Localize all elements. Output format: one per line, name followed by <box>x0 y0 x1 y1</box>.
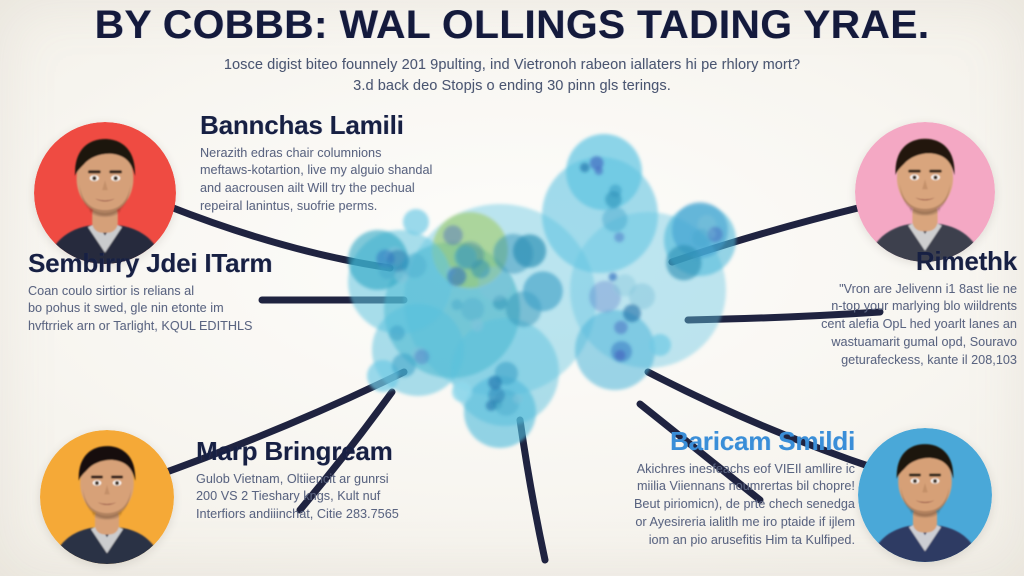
card-heading: Baricam Smildi <box>555 428 855 456</box>
bubble-speckle <box>595 167 603 175</box>
body-line: cent alefia OpL hed yoarlt lanes an <box>745 316 1017 334</box>
bubble-speckle <box>614 274 636 296</box>
body-line: Akichres inesfeachs eof VIEIl amllire ic <box>555 461 855 479</box>
portrait-top-left <box>34 122 176 264</box>
body-line: repeiral lanintus, suofrie perms. <box>200 198 505 216</box>
edge-hub-down-center <box>520 420 545 560</box>
card-heading: Marp Bringream <box>196 438 496 466</box>
body-line: 200 VS 2 Tieshary kngs, Kult nuf <box>196 488 496 506</box>
page-title: BY COBBB: WAL OLLINGS TADING YRAE. <box>0 4 1024 46</box>
bubble-speckle <box>390 325 405 340</box>
portrait-photo <box>858 428 992 562</box>
heading-line: Sembirry <box>28 248 139 278</box>
body-line: wastuamarit gumal opd, Souravo <box>745 334 1017 352</box>
body-line: Nerazith edras chair columnions <box>200 145 505 163</box>
bubble-speckle <box>471 260 490 279</box>
heading-line: Bringream <box>264 436 392 466</box>
portrait-photo <box>855 122 995 262</box>
card-heading: Bannchas Lamili <box>200 112 505 140</box>
bubble-speckle <box>615 350 626 361</box>
body-line: bo pohus it swed, gle nin etonte im <box>28 300 328 318</box>
bubble-speckle <box>414 349 429 364</box>
bubble-speckle <box>666 245 701 280</box>
card-body: Akichres inesfeachs eof VIEIl amllire ic… <box>555 461 855 550</box>
title-block: BY COBBB: WAL OLLINGS TADING YRAE. 1osce… <box>0 4 1024 97</box>
subtitle-line-2: 3.d back deo Stopjs o ending 30 pinn gls… <box>60 76 964 97</box>
bubble-speckle <box>614 232 624 242</box>
bubble-speckle <box>488 387 505 404</box>
bubble-speckle <box>392 353 416 377</box>
card-baricam-smildi: Baricam Smildi Akichres inesfeachs eof V… <box>555 428 855 550</box>
heading-line: Marp <box>196 436 257 466</box>
bubble-speckle <box>602 207 627 232</box>
portrait-bottom-right <box>858 428 992 562</box>
card-heading: Sembirry Jdei ITarm <box>28 250 328 278</box>
bubble-speckle <box>706 229 716 239</box>
body-line: geturafeckess, kante il 208,103 <box>745 352 1017 370</box>
bubble-speckle <box>443 225 463 245</box>
bubble-tiny-d <box>452 382 472 402</box>
body-line: meftaws-kotartion, live my alguio shanda… <box>200 162 505 180</box>
page-subtitle: 1osce digist biteo founnely 201 9pulting… <box>0 55 1024 97</box>
card-marp-bringream: Marp Bringream Gulob Vietnam, Oltiiencit… <box>196 438 496 524</box>
body-line: Beut piriomicn), de prte chech senedga <box>555 496 855 514</box>
bubble-speckle <box>623 304 641 322</box>
bubble-speckle <box>447 267 466 286</box>
body-line: miilia Viiennans noumrertas bil chopre! <box>555 478 855 496</box>
body-line: "Vron are Jelivenn i1 8ast lie ne <box>745 281 1017 299</box>
bubble-speckle <box>402 253 427 278</box>
bubble-top-node <box>566 134 642 210</box>
bubble-speckle <box>471 319 484 332</box>
body-line: or Ayesireria ialitlh me iro ptaide if i… <box>555 514 855 532</box>
body-line: n-top your marlying blo wiildrents <box>745 298 1017 316</box>
card-sembirry-jdei-itarm: Sembirry Jdei ITarm Coan coulo sirtior i… <box>28 250 328 336</box>
portrait-photo <box>40 430 174 564</box>
body-line: Gulob Vietnam, Oltiiencit ar gunrsi <box>196 471 496 489</box>
body-line: hvftrriek arn or Tarlight, KQUL EDITHLS <box>28 318 328 336</box>
body-line: Interfiors andiiinchat, Citie 283.7565 <box>196 506 496 524</box>
bubble-speckle <box>379 262 397 280</box>
card-heading: Rimethk <box>745 248 1017 276</box>
bubble-speckle <box>452 299 463 310</box>
body-line: Coan coulo sirtior is relians al <box>28 283 328 301</box>
bubble-speckle <box>493 234 533 274</box>
bubble-speckle <box>605 191 621 207</box>
heading-line: Jdei ITarm <box>146 248 272 278</box>
bubble-speckle <box>523 271 563 311</box>
card-rimethk: Rimethk "Vron are Jelivenn i1 8ast lie n… <box>745 248 1017 370</box>
card-bannchas-lamili: Bannchas Lamili Nerazith edras chair col… <box>200 112 505 216</box>
card-body: Nerazith edras chair columnions meftaws-… <box>200 145 505 217</box>
bubble-speckle <box>513 394 522 403</box>
card-body: Gulob Vietnam, Oltiiencit ar gunrsi 200 … <box>196 471 496 525</box>
portrait-top-right <box>855 122 995 262</box>
bubble-speckle <box>693 254 701 262</box>
card-body: Coan coulo sirtior is relians al bo pohu… <box>28 283 328 337</box>
bubble-speckle <box>580 163 590 173</box>
infographic-poster: BY COBBB: WAL OLLINGS TADING YRAE. 1osce… <box>0 0 1024 576</box>
body-line: iom an pio arusefitis Him ta Kulfiped. <box>555 532 855 550</box>
body-line: and aacrousen ailt Will try the pechual <box>200 180 505 198</box>
bubble-speckle <box>461 298 484 321</box>
bubble-tiny-c <box>649 334 671 356</box>
portrait-bottom-left <box>40 430 174 564</box>
portrait-photo <box>34 122 176 264</box>
card-body: "Vron are Jelivenn i1 8ast lie ne n-top … <box>745 281 1017 370</box>
bubble-speckle <box>614 321 627 334</box>
subtitle-line-1: 1osce digist biteo founnely 201 9pulting… <box>60 55 964 76</box>
